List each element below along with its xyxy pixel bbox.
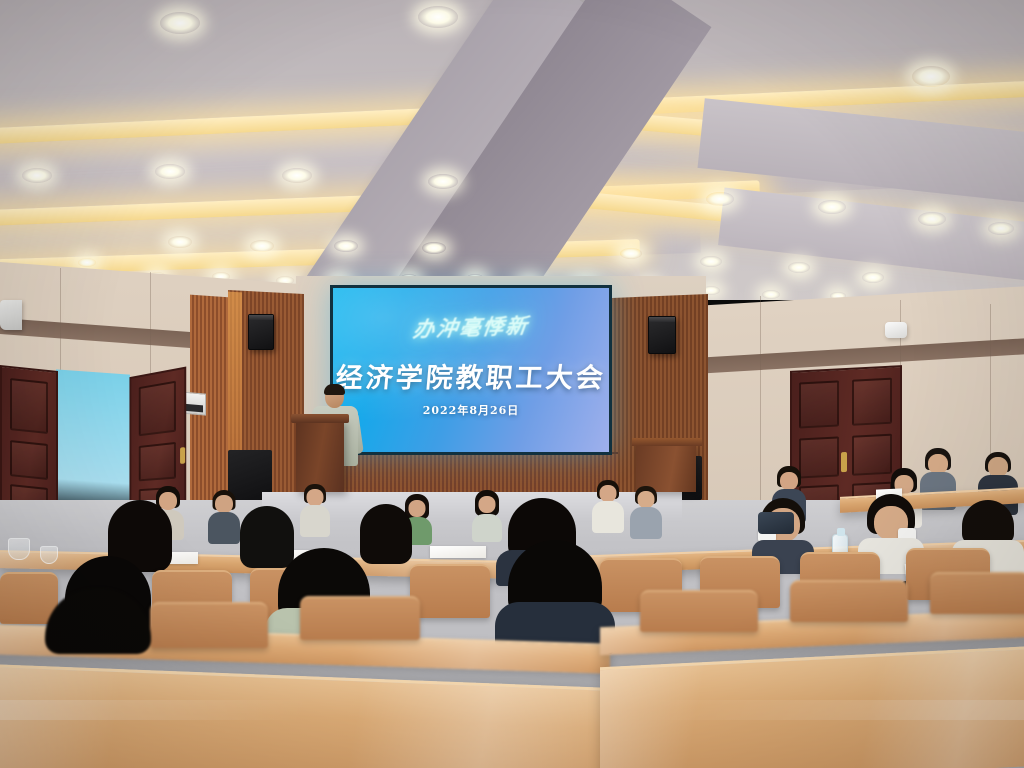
audience-person [300,484,330,536]
audience-person [38,588,158,658]
side-table-right [636,444,696,492]
speaker-left-icon [248,314,274,350]
chair [150,602,268,648]
air-conditioner-icon [0,300,22,330]
audience-person [630,486,662,538]
audience-person [472,490,502,540]
chair [410,564,490,618]
chair [640,590,758,632]
chair [790,580,908,622]
lecture-hall-photo: 办沖毫悸新 经济学院教职工大会 2022年8月26日 [0,0,1024,768]
screen-calligraphy-text: 办沖毫悸新 [333,307,609,347]
back-wall: 办沖毫悸新 经济学院教职工大会 2022年8月26日 [0,0,1024,560]
chair [930,572,1024,614]
handbag [758,512,794,534]
speaker-right-icon [648,316,676,354]
screen-main-title: 经济学院教职工大会 [333,356,609,395]
led-presentation-screen: 办沖毫悸新 经济学院教职工大会 2022年8月26日 [330,285,612,455]
wooden-podium [296,420,344,492]
drinking-glass [8,538,30,560]
door-handle-icon [841,452,847,472]
audience-person [592,480,624,532]
screen-date-text: 2022年8月26日 [333,402,609,418]
drinking-glass [40,546,58,564]
foreground-desk-right [600,645,1024,768]
screen-surface: 办沖毫悸新 经济学院教职工大会 2022年8月26日 [333,288,609,452]
paper-sheet [430,546,486,558]
wifi-access-point-icon [885,322,907,338]
audience-person [500,540,610,646]
wall-seam [760,296,761,532]
chair [300,596,420,640]
